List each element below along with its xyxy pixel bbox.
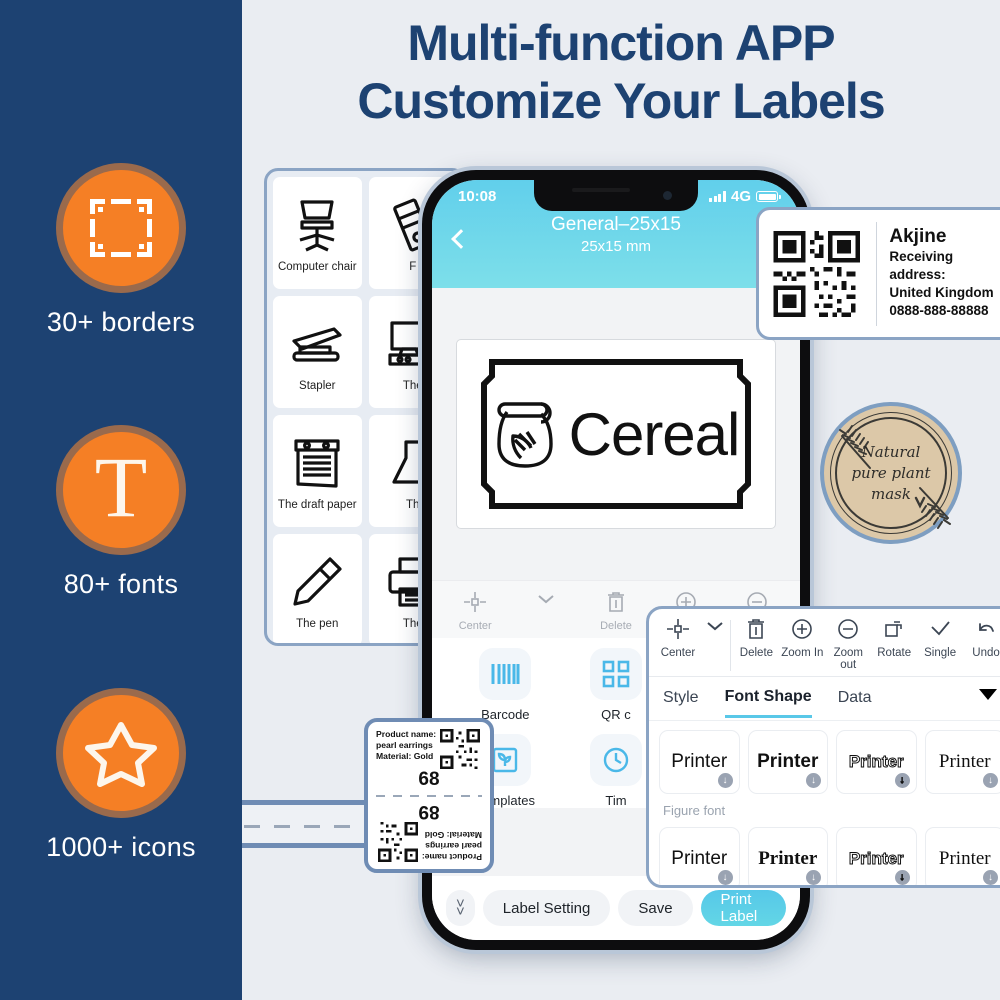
- align-center-icon: [666, 618, 690, 640]
- camera-icon: [663, 191, 672, 200]
- panel-delete-button[interactable]: Delete: [733, 618, 779, 659]
- panel-center-label: Center: [655, 647, 701, 659]
- panel-zoom-out-label: Zoom out: [825, 647, 871, 671]
- template-label: The: [403, 618, 423, 630]
- headline-line-1: Multi-function APP: [242, 14, 1000, 72]
- font-option[interactable]: Printer ↓: [836, 827, 917, 888]
- status-time: 10:08: [458, 188, 496, 205]
- address-line-1: Receiving address:: [889, 248, 1000, 284]
- tool-barcode[interactable]: Barcode: [450, 648, 561, 722]
- font-list-row-2[interactable]: Printer ↓ Printer ↓ Printer ↓ Printer ↓: [649, 818, 1000, 888]
- headline-line-2: Customize Your Labels: [242, 72, 1000, 130]
- feature-label: 30+ borders: [0, 307, 242, 338]
- panel-single-button[interactable]: Single: [917, 618, 963, 659]
- battery-icon: [756, 191, 778, 202]
- font-shape-panel[interactable]: Center Delete: [646, 606, 1000, 888]
- double-chevron-down-icon: ˅˅: [456, 900, 465, 916]
- feature-label: 80+ fonts: [0, 569, 242, 600]
- collapse-button[interactable]: ˅˅: [446, 890, 475, 926]
- panel-center-button[interactable]: Center: [655, 618, 701, 659]
- panel-zoom-in-label: Zoom In: [779, 647, 825, 659]
- toolbar-delete[interactable]: Delete: [581, 591, 651, 632]
- undo-icon: [975, 618, 997, 640]
- jewel-line-3: Material: Gold: [376, 751, 436, 762]
- download-arrow-icon[interactable]: ↓: [983, 773, 998, 788]
- draft-paper-icon: [286, 432, 348, 494]
- align-center-icon: [463, 591, 487, 613]
- features-sidebar: 30+ borders T 80+ fonts 1000+ icons: [0, 0, 242, 1000]
- feature-icons: 1000+ icons: [0, 688, 242, 863]
- font-option[interactable]: Printer ↓: [659, 827, 740, 888]
- font-option[interactable]: Printer ↓: [836, 730, 917, 794]
- signal-icon: [709, 191, 726, 202]
- address-phone: 0888-888-88888: [889, 302, 1000, 320]
- template-label: Th: [406, 499, 419, 511]
- panel-rotate-button[interactable]: Rotate: [871, 618, 917, 659]
- panel-undo-button[interactable]: Undo: [963, 618, 1000, 659]
- panel-center-dropdown[interactable]: [701, 618, 729, 636]
- download-arrow-icon[interactable]: ↓: [983, 870, 998, 885]
- qr-code-icon: [590, 648, 642, 700]
- nav-title: General–25x15 25x15 mm: [432, 214, 800, 255]
- jewel-top-half: Product name: pearl earrings Material: G…: [376, 729, 482, 791]
- jewelry-label-card: Product name: pearl earrings Material: G…: [364, 718, 494, 873]
- template-item[interactable]: The pen: [273, 534, 362, 646]
- notched-frame-icon: [474, 358, 758, 510]
- font-sample: Printer: [671, 751, 727, 773]
- jewel-line-1-mirrored: Product name:: [422, 851, 482, 862]
- chevron-down-icon: [707, 621, 723, 631]
- borders-icon-circle: [56, 163, 186, 293]
- address-label-card: Akjine Receiving address: United Kingdom…: [756, 207, 1000, 340]
- jewel-line-3-mirrored: Material: Gold: [422, 829, 482, 840]
- template-label: Computer chair: [278, 261, 357, 273]
- pen-icon: [286, 551, 348, 613]
- toolbar-center[interactable]: Center: [440, 591, 510, 632]
- qr-code-icon: [378, 822, 418, 862]
- tab-style[interactable]: Style: [663, 689, 699, 716]
- promo-stage: Multi-function APP Customize Your Labels…: [242, 0, 1000, 1000]
- font-option[interactable]: Printer ↓: [925, 730, 1000, 794]
- jewel-line-2-mirrored: pearl earrings: [422, 840, 482, 851]
- font-list-row-1[interactable]: Printer ↓ Printer ↓ Printer ↓ Printer ↓: [649, 721, 1000, 794]
- qr-code-icon: [769, 222, 864, 326]
- font-sample: Printer: [849, 849, 904, 869]
- toolbar-center-dropdown[interactable]: [510, 591, 580, 609]
- phone-notch: [534, 180, 698, 211]
- panel-rotate-label: Rotate: [871, 647, 917, 659]
- trash-icon: [746, 618, 766, 640]
- template-label: F: [409, 261, 416, 273]
- dashed-border-icon: [90, 199, 152, 257]
- panel-zoom-in-button[interactable]: Zoom In: [779, 618, 825, 659]
- panel-delete-label: Delete: [733, 647, 779, 659]
- panel-single-label: Single: [917, 647, 963, 659]
- time-icon: [590, 734, 642, 786]
- template-label: Stapler: [299, 380, 335, 392]
- font-option[interactable]: Printer ↓: [925, 827, 1000, 888]
- panel-undo-label: Undo: [963, 647, 1000, 659]
- barcode-icon: [479, 648, 531, 700]
- icons-icon-circle: [56, 688, 186, 818]
- mask-line-2: pure plant: [851, 463, 930, 484]
- plus-circle-icon: [791, 618, 813, 640]
- chevron-down-icon: [538, 594, 554, 604]
- label-content: Cereal: [474, 358, 758, 510]
- font-sample: Printer: [671, 848, 727, 870]
- jewel-text-block-mirrored: Product name: pearl earrings Material: G…: [422, 829, 482, 862]
- mask-line-1: Natural: [851, 442, 930, 463]
- jewel-text-block: Product name: pearl earrings Material: G…: [376, 729, 436, 762]
- font-option[interactable]: Printer ↓: [748, 827, 829, 888]
- toolbar-separator: [730, 620, 731, 671]
- jewel-bottom-half: Product name: pearl earrings Material: G…: [376, 800, 482, 862]
- text-T-icon: T: [95, 444, 148, 530]
- address-info: Akjine Receiving address: United Kingdom…: [889, 228, 1000, 320]
- speaker-icon: [572, 188, 630, 192]
- feature-fonts: T 80+ fonts: [0, 425, 242, 600]
- check-icon: [929, 618, 951, 640]
- jewel-line-1: Product name:: [376, 729, 436, 740]
- template-item[interactable]: The draft paper: [273, 415, 362, 527]
- jewel-number-bottom: 89: [376, 800, 482, 822]
- download-arrow-icon[interactable]: ↓: [806, 773, 821, 788]
- font-sample: Printer: [939, 848, 991, 870]
- card-divider: [876, 222, 877, 326]
- template-label: The pen: [296, 618, 338, 630]
- nav-title-text: General–25x15: [432, 214, 800, 236]
- caret-down-icon[interactable]: [979, 689, 997, 700]
- font-option[interactable]: Printer ↓: [659, 730, 740, 794]
- jewel-line-2: pearl earrings: [376, 740, 436, 751]
- stapler-icon: [286, 313, 348, 375]
- tab-font-shape[interactable]: Font Shape: [725, 688, 812, 718]
- address-line-2: United Kingdom: [889, 284, 1000, 302]
- download-arrow-icon[interactable]: ↓: [806, 870, 821, 885]
- star-icon: [84, 718, 158, 788]
- panel-zoom-out-button[interactable]: Zoom out: [825, 618, 871, 671]
- panel-tabs[interactable]: Style Font Shape Data: [649, 677, 1000, 721]
- download-arrow-icon[interactable]: ↓: [895, 870, 910, 885]
- template-label: The draft paper: [278, 499, 357, 511]
- label-canvas[interactable]: Cereal: [432, 288, 800, 580]
- minus-circle-icon: [837, 618, 859, 640]
- feature-label: 1000+ icons: [0, 832, 242, 863]
- trash-icon: [606, 591, 626, 613]
- font-sample: Printer: [849, 752, 904, 772]
- font-option[interactable]: Printer ↓: [748, 730, 829, 794]
- template-item[interactable]: Stapler: [273, 296, 362, 408]
- page-title: Multi-function APP Customize Your Labels: [242, 14, 1000, 130]
- font-sample: Printer: [939, 751, 991, 773]
- feature-borders: 30+ borders: [0, 163, 242, 338]
- section-label: Figure font: [649, 794, 1000, 818]
- download-arrow-icon[interactable]: ↓: [718, 870, 733, 885]
- print-label-button[interactable]: Print Label: [701, 890, 786, 926]
- network-label: 4G: [731, 188, 751, 205]
- jewel-number-top: 68: [376, 769, 482, 791]
- toolbar-center-label: Center: [440, 620, 510, 632]
- tab-data[interactable]: Data: [838, 689, 872, 716]
- label-preview-card[interactable]: Cereal: [456, 339, 776, 529]
- nav-subtitle-text: 25x15 mm: [432, 238, 800, 255]
- template-item[interactable]: Computer chair: [273, 177, 362, 289]
- panel-edit-toolbar[interactable]: Center Delete: [649, 609, 1000, 677]
- mask-sticker-text: Natural pure plant mask: [851, 442, 930, 505]
- office-chair-icon: [286, 194, 348, 256]
- save-button[interactable]: Save: [618, 890, 692, 926]
- label-setting-button[interactable]: Label Setting: [483, 890, 611, 926]
- template-label: The: [403, 380, 423, 392]
- mask-sticker: Natural pure plant mask: [820, 402, 962, 544]
- fonts-icon-circle: T: [56, 425, 186, 555]
- qr-code-icon: [440, 729, 480, 769]
- toolbar-delete-label: Delete: [581, 620, 651, 632]
- font-sample: Printer: [758, 848, 817, 870]
- download-arrow-icon[interactable]: ↓: [718, 773, 733, 788]
- rotate-icon: [883, 618, 905, 640]
- mask-line-3: mask: [851, 484, 930, 505]
- download-arrow-icon[interactable]: ↓: [895, 773, 910, 788]
- jewel-divider: [376, 795, 482, 797]
- recipient-name: Akjine: [889, 228, 1000, 246]
- font-sample: Printer: [757, 751, 818, 773]
